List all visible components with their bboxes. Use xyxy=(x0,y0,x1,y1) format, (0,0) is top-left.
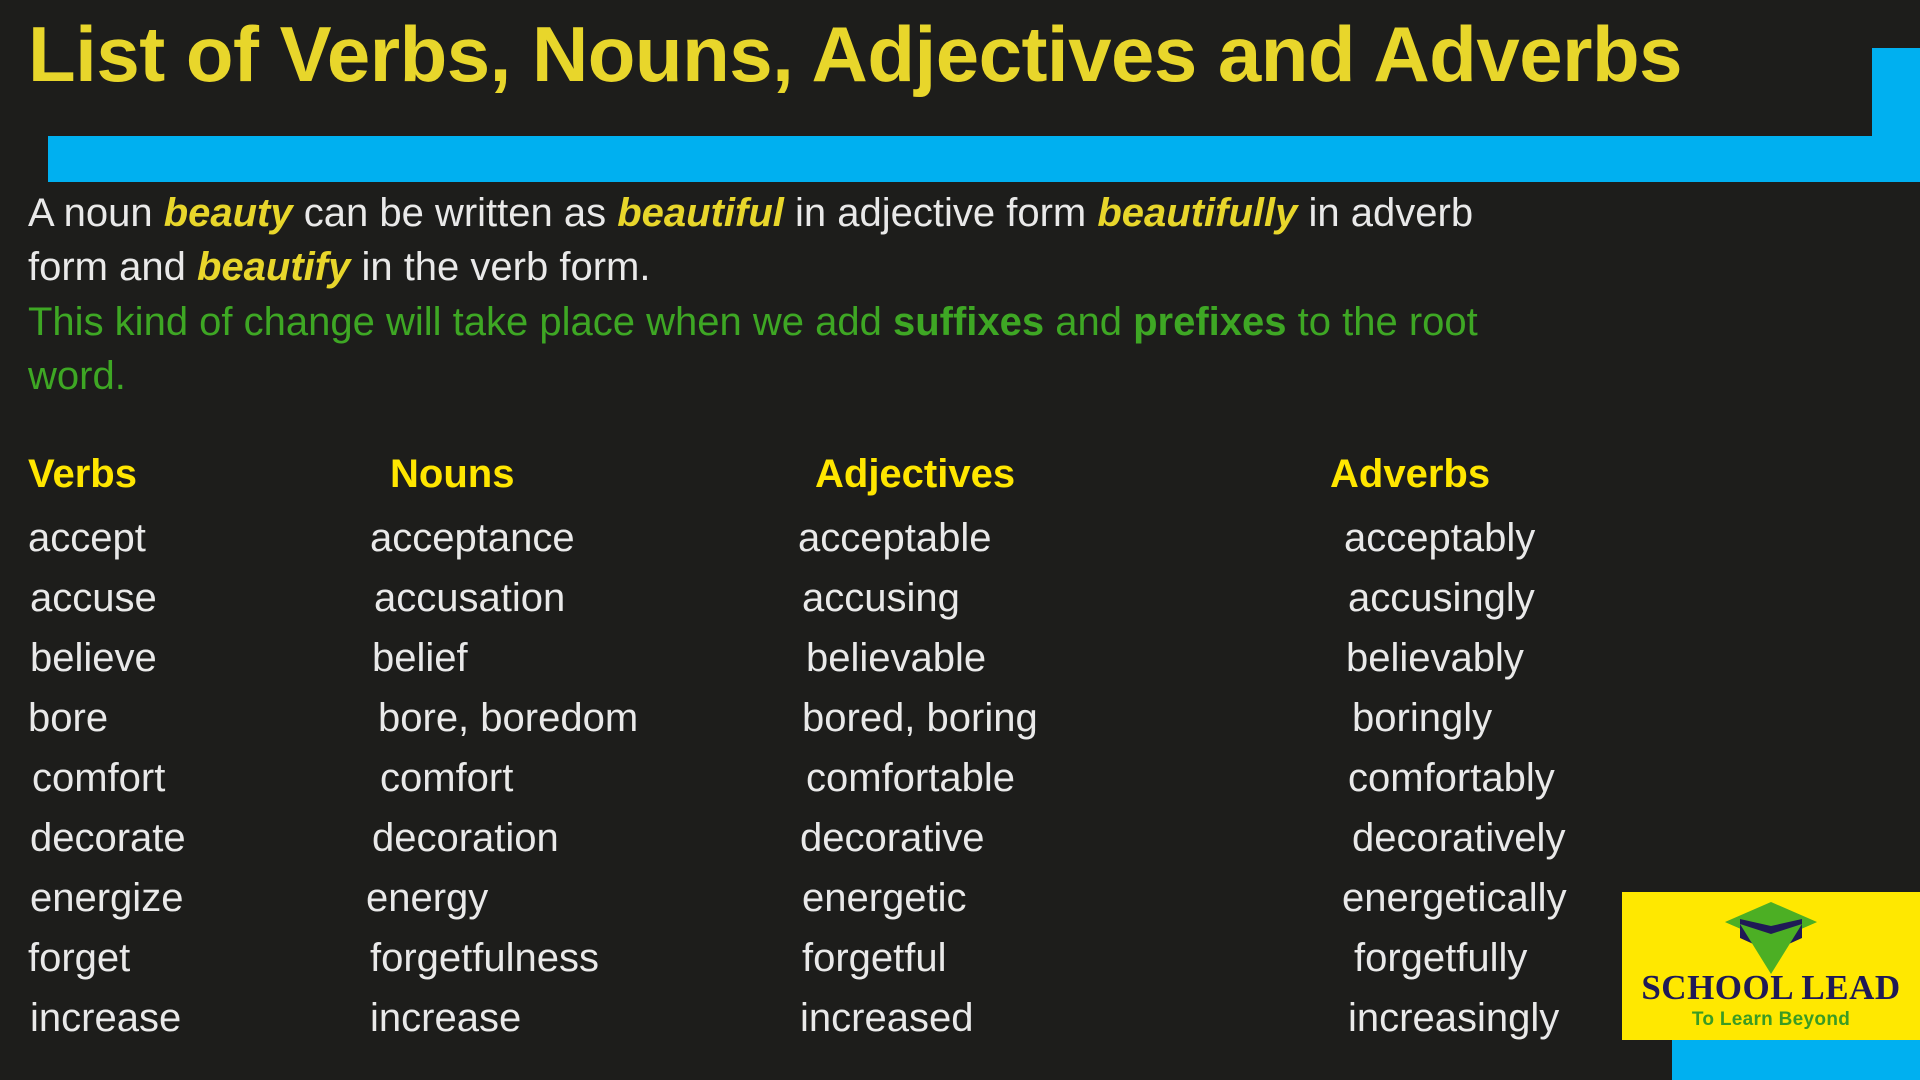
graduation-cap-icon xyxy=(1724,900,1818,976)
cell-adjective: accusing xyxy=(802,576,960,621)
cell-adverb: comfortably xyxy=(1348,756,1555,801)
table-row: bore bore, boredom bored, boring boringl… xyxy=(0,696,1920,756)
page-title: List of Verbs, Nouns, Adjectives and Adv… xyxy=(28,14,1878,96)
highlight-beautiful: beautiful xyxy=(617,191,784,235)
cell-adverb: increasingly xyxy=(1348,996,1559,1041)
column-header-adverbs: Adverbs xyxy=(1330,452,1490,497)
cell-noun: bore, boredom xyxy=(378,696,638,741)
logo-name-text: SCHOOL LEAD xyxy=(1622,970,1920,1005)
cell-noun: accusation xyxy=(374,576,565,621)
cell-verb: increase xyxy=(30,996,181,1041)
cell-adjective: bored, boring xyxy=(802,696,1038,741)
cell-verb: bore xyxy=(28,696,108,741)
school-lead-logo: SCHOOL LEAD To Learn Beyond xyxy=(1622,892,1920,1040)
intro-text-5: in the verb form. xyxy=(350,245,650,289)
cell-noun: forgetfulness xyxy=(370,936,599,981)
cell-verb: forget xyxy=(28,936,130,981)
cell-verb: energize xyxy=(30,876,183,921)
intro-text-2: can be written as xyxy=(293,191,618,235)
cell-noun: acceptance xyxy=(370,516,575,561)
rule-text-2: and xyxy=(1044,300,1133,344)
cell-noun: energy xyxy=(366,876,488,921)
accent-bar-top-right-vertical xyxy=(1872,48,1920,140)
table-header-row: Verbs Nouns Adjectives Adverbs xyxy=(0,452,1920,516)
cell-noun: comfort xyxy=(380,756,513,801)
rule-text-1: This kind of change will take place when… xyxy=(28,300,893,344)
column-header-nouns: Nouns xyxy=(390,452,514,497)
cell-adjective: forgetful xyxy=(802,936,947,981)
cell-adverb: energetically xyxy=(1342,876,1567,921)
highlight-prefixes: prefixes xyxy=(1133,300,1286,344)
cell-noun: decoration xyxy=(372,816,559,861)
table-row: comfort comfort comfortable comfortably xyxy=(0,756,1920,816)
logo-tagline-text: To Learn Beyond xyxy=(1622,1010,1920,1029)
cell-noun: belief xyxy=(372,636,468,681)
cell-adjective: energetic xyxy=(802,876,967,921)
cell-adjective: increased xyxy=(800,996,973,1041)
cell-adjective: believable xyxy=(806,636,986,681)
highlight-beautifully: beautifully xyxy=(1097,191,1297,235)
cell-verb: decorate xyxy=(30,816,186,861)
cell-adverb: decoratively xyxy=(1352,816,1565,861)
cell-adjective: decorative xyxy=(800,816,985,861)
column-header-verbs: Verbs xyxy=(28,452,137,497)
cell-adjective: acceptable xyxy=(798,516,991,561)
highlight-beauty: beauty xyxy=(164,191,293,235)
highlight-suffixes: suffixes xyxy=(893,300,1044,344)
cell-adverb: believably xyxy=(1346,636,1524,681)
cell-adverb: boringly xyxy=(1352,696,1492,741)
cell-verb: believe xyxy=(30,636,157,681)
cell-adjective: comfortable xyxy=(806,756,1015,801)
cell-adverb: acceptably xyxy=(1344,516,1535,561)
intro-paragraph-rule: This kind of change will take place when… xyxy=(28,295,1548,404)
cell-verb: accept xyxy=(28,516,146,561)
intro-text-3: in adjective form xyxy=(784,191,1097,235)
table-row: accuse accusation accusing accusingly xyxy=(0,576,1920,636)
table-row: decorate decoration decorative decorativ… xyxy=(0,816,1920,876)
table-row: believe belief believable believably xyxy=(0,636,1920,696)
table-row: accept acceptance acceptable acceptably xyxy=(0,516,1920,576)
accent-bar-header-horizontal xyxy=(48,136,1920,182)
cell-noun: increase xyxy=(370,996,521,1041)
cell-verb: comfort xyxy=(32,756,165,801)
column-header-adjectives: Adjectives xyxy=(815,452,1015,497)
intro-text-1: A noun xyxy=(28,191,164,235)
cell-adverb: accusingly xyxy=(1348,576,1535,621)
intro-paragraph-example: A noun beauty can be written as beautifu… xyxy=(28,186,1528,295)
highlight-beautify: beautify xyxy=(197,245,350,289)
cell-adverb: forgetfully xyxy=(1354,936,1527,981)
cell-verb: accuse xyxy=(30,576,157,621)
